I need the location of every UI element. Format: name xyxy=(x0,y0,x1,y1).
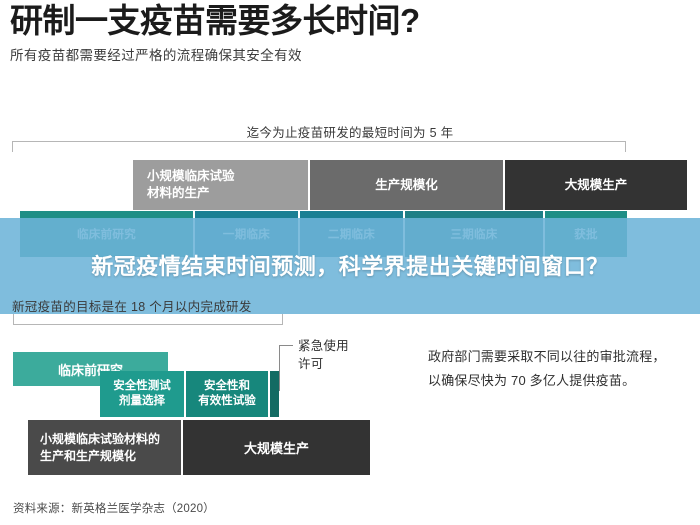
annotation-vertical-line xyxy=(279,345,280,391)
traditional-timeline-bracket xyxy=(12,141,626,152)
note-line-2: 以确保尽快为 70 多亿人提供疫苗。 xyxy=(428,369,690,393)
accelerated-timeline-caption: 新冠疫苗的目标是在 18 个月以内完成研发 xyxy=(12,296,252,315)
bracket-line xyxy=(13,324,283,325)
bar-accelerated-approval xyxy=(270,371,279,417)
bar-accelerated-safety-efficacy: 安全性和有效性试验 xyxy=(186,371,270,417)
source-citation: 资料来源：新英格兰医学杂志（2020） xyxy=(13,500,215,516)
bar-small-scale-clinical-material: 小规模临床试验材料的生产 xyxy=(133,160,310,210)
bracket-line xyxy=(12,141,626,142)
bracket-tick-left xyxy=(12,141,13,152)
accelerated-timeline-bracket xyxy=(13,314,283,325)
bar-accelerated-small-scale-and-scaleup: 小规模临床试验材料的生产和生产规模化 xyxy=(28,420,183,475)
traditional-timeline-caption: 迄今为止疫苗研发的最短时间为 5 年 xyxy=(0,122,700,141)
note-line-1: 政府部门需要采取不同以往的审批流程， xyxy=(428,345,690,369)
header: 研制一支疫苗需要多长时间? 所有疫苗都需要经过严格的流程确保其安全有效 xyxy=(10,2,690,64)
infographic-page: 研制一支疫苗需要多长时间? 所有疫苗都需要经过严格的流程确保其安全有效 迄今为止… xyxy=(0,0,700,525)
bracket-tick-left xyxy=(13,314,14,325)
page-subtitle: 所有疫苗都需要经过严格的流程确保其安全有效 xyxy=(10,48,690,64)
bar-mass-production: 大规模生产 xyxy=(505,160,687,210)
page-title: 研制一支疫苗需要多长时间? xyxy=(10,2,690,41)
bracket-tick-right xyxy=(625,141,626,152)
bar-accelerated-mass-production: 大规模生产 xyxy=(183,420,370,475)
approval-process-note: 政府部门需要采取不同以往的审批流程， 以确保尽快为 70 多亿人提供疫苗。 xyxy=(428,345,690,393)
bar-accelerated-safety-dose: 安全性测试剂量选择 xyxy=(100,371,186,417)
annotation-horizontal-line xyxy=(279,345,293,346)
bar-production-scale-up: 生产规模化 xyxy=(310,160,505,210)
emergency-use-label: 紧急使用许可 xyxy=(298,337,408,373)
bracket-tick-right xyxy=(282,314,283,325)
